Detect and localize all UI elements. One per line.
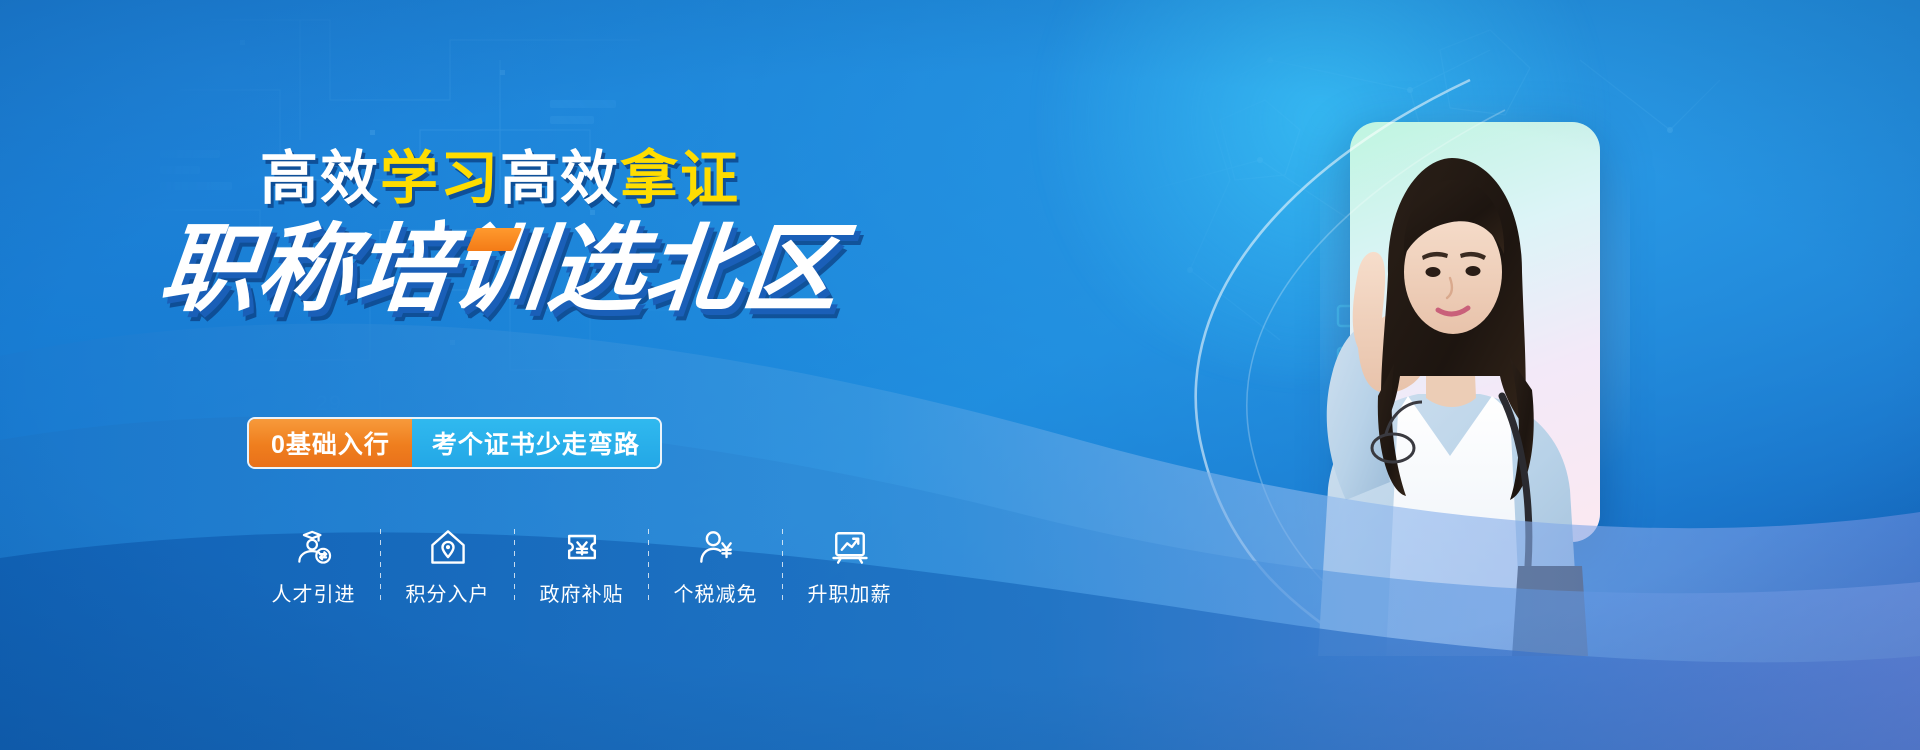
growth-chart-icon [828,525,872,569]
feature-item-promotion[interactable]: 升职加薪 [783,525,916,607]
hero-visual-stage [1020,0,1920,750]
person-yuan-icon [694,525,738,569]
headline-subline: 高效学习高效拿证 [0,150,1000,208]
badge-secondary-label: 考个证书少走弯路 [412,419,660,467]
feature-item-subsidy[interactable]: 政府补贴 [515,525,648,607]
graduate-person-icon [292,525,336,569]
feature-label: 个税减免 [674,578,758,607]
home-location-icon [426,525,470,569]
value-prop-badge[interactable]: 0基础入行 考个证书少走弯路 [247,417,662,469]
woman-pointing-up-photo [1150,96,1710,656]
ticket-yuan-icon [560,525,604,569]
feature-item-talent[interactable]: 人才引进 [247,525,380,607]
headline-seg-3: 高效 [500,146,620,211]
headline-main: 职称培训选北区 [0,222,1005,318]
headline-seg-1: 高效 [260,146,380,211]
headline-seg-4: 拿证 [620,146,740,211]
feature-label: 升职加薪 [808,578,892,607]
feature-label: 积分入户 [406,578,490,607]
headline-seg-2: 学习 [380,146,500,211]
feature-label: 政府补贴 [540,578,624,607]
feature-label: 人才引进 [272,578,356,607]
feature-item-tax[interactable]: 个税减免 [649,525,782,607]
feature-item-residency[interactable]: 积分入户 [381,525,514,607]
badge-primary-label: 0基础入行 [249,419,412,467]
feature-strip: 人才引进 积分入户 [247,525,916,607]
hero-copy: 高效学习高效拿证 职称培训选北区 0基础入行 考个证书少走弯路 [0,0,1000,750]
promo-banner: 29 [0,0,1920,750]
